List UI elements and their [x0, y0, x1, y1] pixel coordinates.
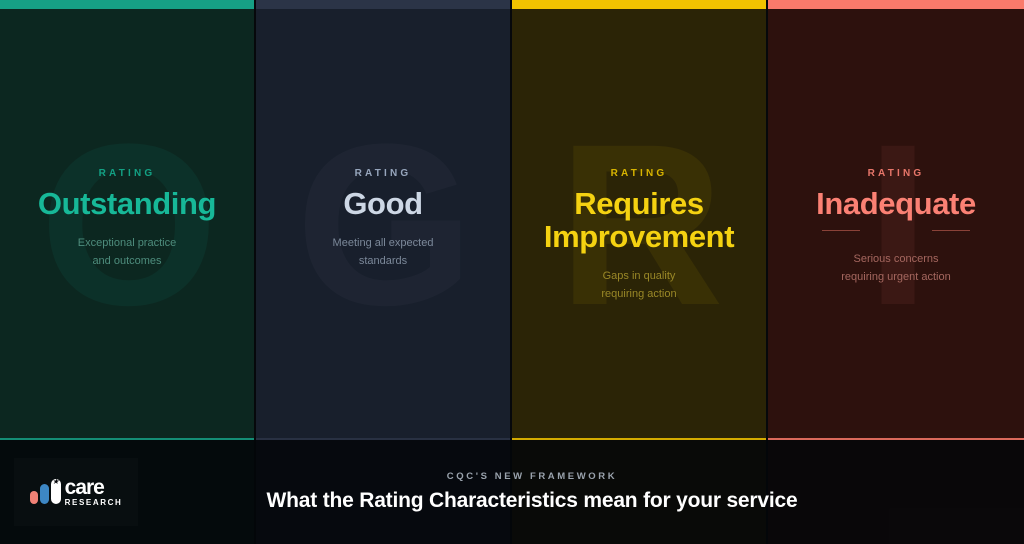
rating-desc-line1: Meeting all expected: [333, 237, 434, 249]
rating-desc-line1: Exceptional practice: [78, 237, 176, 249]
rating-kicker-good: RATING: [264, 168, 502, 179]
rating-desc-requires-improvement: Gaps in quality requiring action: [520, 267, 758, 303]
brand-logo[interactable]: care RESEARCH: [14, 458, 138, 526]
rating-name-good: Good: [264, 187, 502, 220]
rating-desc-line1: Serious concerns: [854, 253, 939, 265]
footer-bar: care RESEARCH CQC'S NEW FRAMEWORK What t…: [0, 440, 1024, 544]
footer-kicker: CQC'S NEW FRAMEWORK: [40, 471, 1024, 482]
rating-desc-outstanding: Exceptional practice and outcomes: [8, 234, 246, 270]
panel-body-inadequate: RATING Inadequate Serious concerns requi…: [768, 168, 1024, 286]
decorative-rules-inadequate: [776, 224, 1016, 236]
rating-name-requires-improvement: Requires Improvement: [520, 187, 758, 253]
rule-right: [932, 230, 970, 231]
logo-wordmark: care RESEARCH: [65, 477, 123, 507]
logo-bar-blue-icon: [40, 484, 49, 504]
logo-word-care: care: [65, 477, 123, 498]
rating-desc-good: Meeting all expected standards: [264, 234, 502, 270]
rating-kicker-requires-improvement: RATING: [520, 168, 758, 179]
logo-bar-white-star-icon: [51, 479, 61, 504]
accent-bar-good: [256, 0, 510, 9]
rating-name-line2: Improvement: [544, 219, 734, 254]
footer-title: What the Rating Characteristics mean for…: [40, 489, 1024, 513]
logo-bar-pink-icon: [30, 491, 38, 504]
accent-bar-outstanding: [0, 0, 254, 9]
accent-bar-requires-improvement: [512, 0, 766, 9]
rating-desc-line2: and outcomes: [8, 252, 246, 270]
panel-body-good: RATING Good Meeting all expected standar…: [256, 168, 510, 270]
rating-name-line1: Requires: [574, 186, 703, 221]
footer-text-block: CQC'S NEW FRAMEWORK What the Rating Char…: [0, 471, 1024, 513]
logo-word-research: RESEARCH: [65, 499, 123, 507]
rating-kicker-outstanding: RATING: [8, 168, 246, 179]
infographic-root: O RATING Outstanding Exceptional practic…: [0, 0, 1024, 544]
rating-kicker-inadequate: RATING: [776, 168, 1016, 179]
rating-desc-line1: Gaps in quality: [603, 270, 676, 282]
rating-desc-inadequate: Serious concerns requiring urgent action: [776, 250, 1016, 286]
panel-body-requires-improvement: RATING Requires Improvement Gaps in qual…: [512, 168, 766, 304]
rating-name-outstanding: Outstanding: [8, 187, 246, 220]
rating-name-inadequate: Inadequate: [776, 187, 1016, 220]
rating-desc-line2: standards: [264, 252, 502, 270]
logo-bars-icon: [30, 480, 61, 504]
logo-wrap: care RESEARCH: [30, 477, 123, 507]
rating-desc-line2: requiring urgent action: [776, 268, 1016, 286]
accent-bar-inadequate: [768, 0, 1024, 9]
rule-left: [822, 230, 860, 231]
panel-body-outstanding: RATING Outstanding Exceptional practice …: [0, 168, 254, 270]
rating-desc-line2: requiring action: [520, 285, 758, 303]
